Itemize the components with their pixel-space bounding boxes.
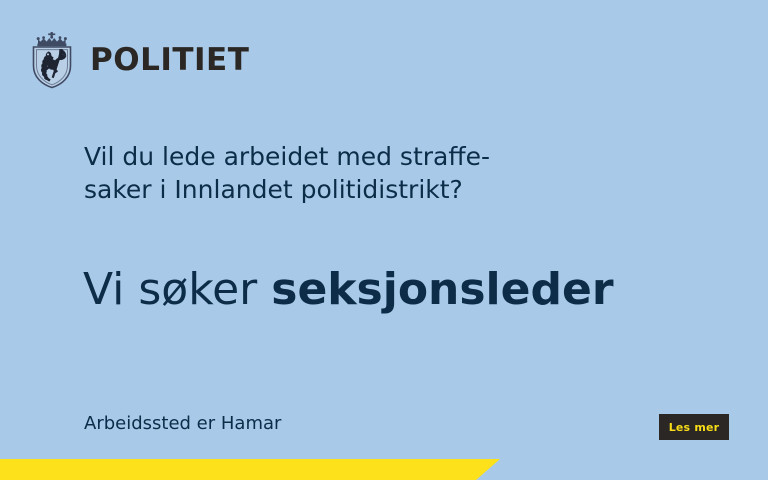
intro-question: Vil du lede arbeidet med straffe- saker …: [84, 140, 644, 206]
headline-strong-part: seksjonsleder: [271, 264, 613, 315]
brand-wordmark: POLITIET: [90, 45, 249, 76]
accent-band: [0, 459, 500, 480]
page-title: Vi søker seksjonsleder: [83, 266, 614, 314]
location-text: Arbeidssted er Hamar: [84, 413, 281, 434]
headline-light-part: Vi søker: [83, 264, 271, 315]
recruitment-banner: POLITIET Vil du lede arbeidet med straff…: [0, 0, 768, 480]
read-more-button[interactable]: Les mer: [659, 414, 729, 440]
coat-of-arms-icon: [26, 31, 78, 89]
brand-lockup: POLITIET: [26, 31, 249, 89]
